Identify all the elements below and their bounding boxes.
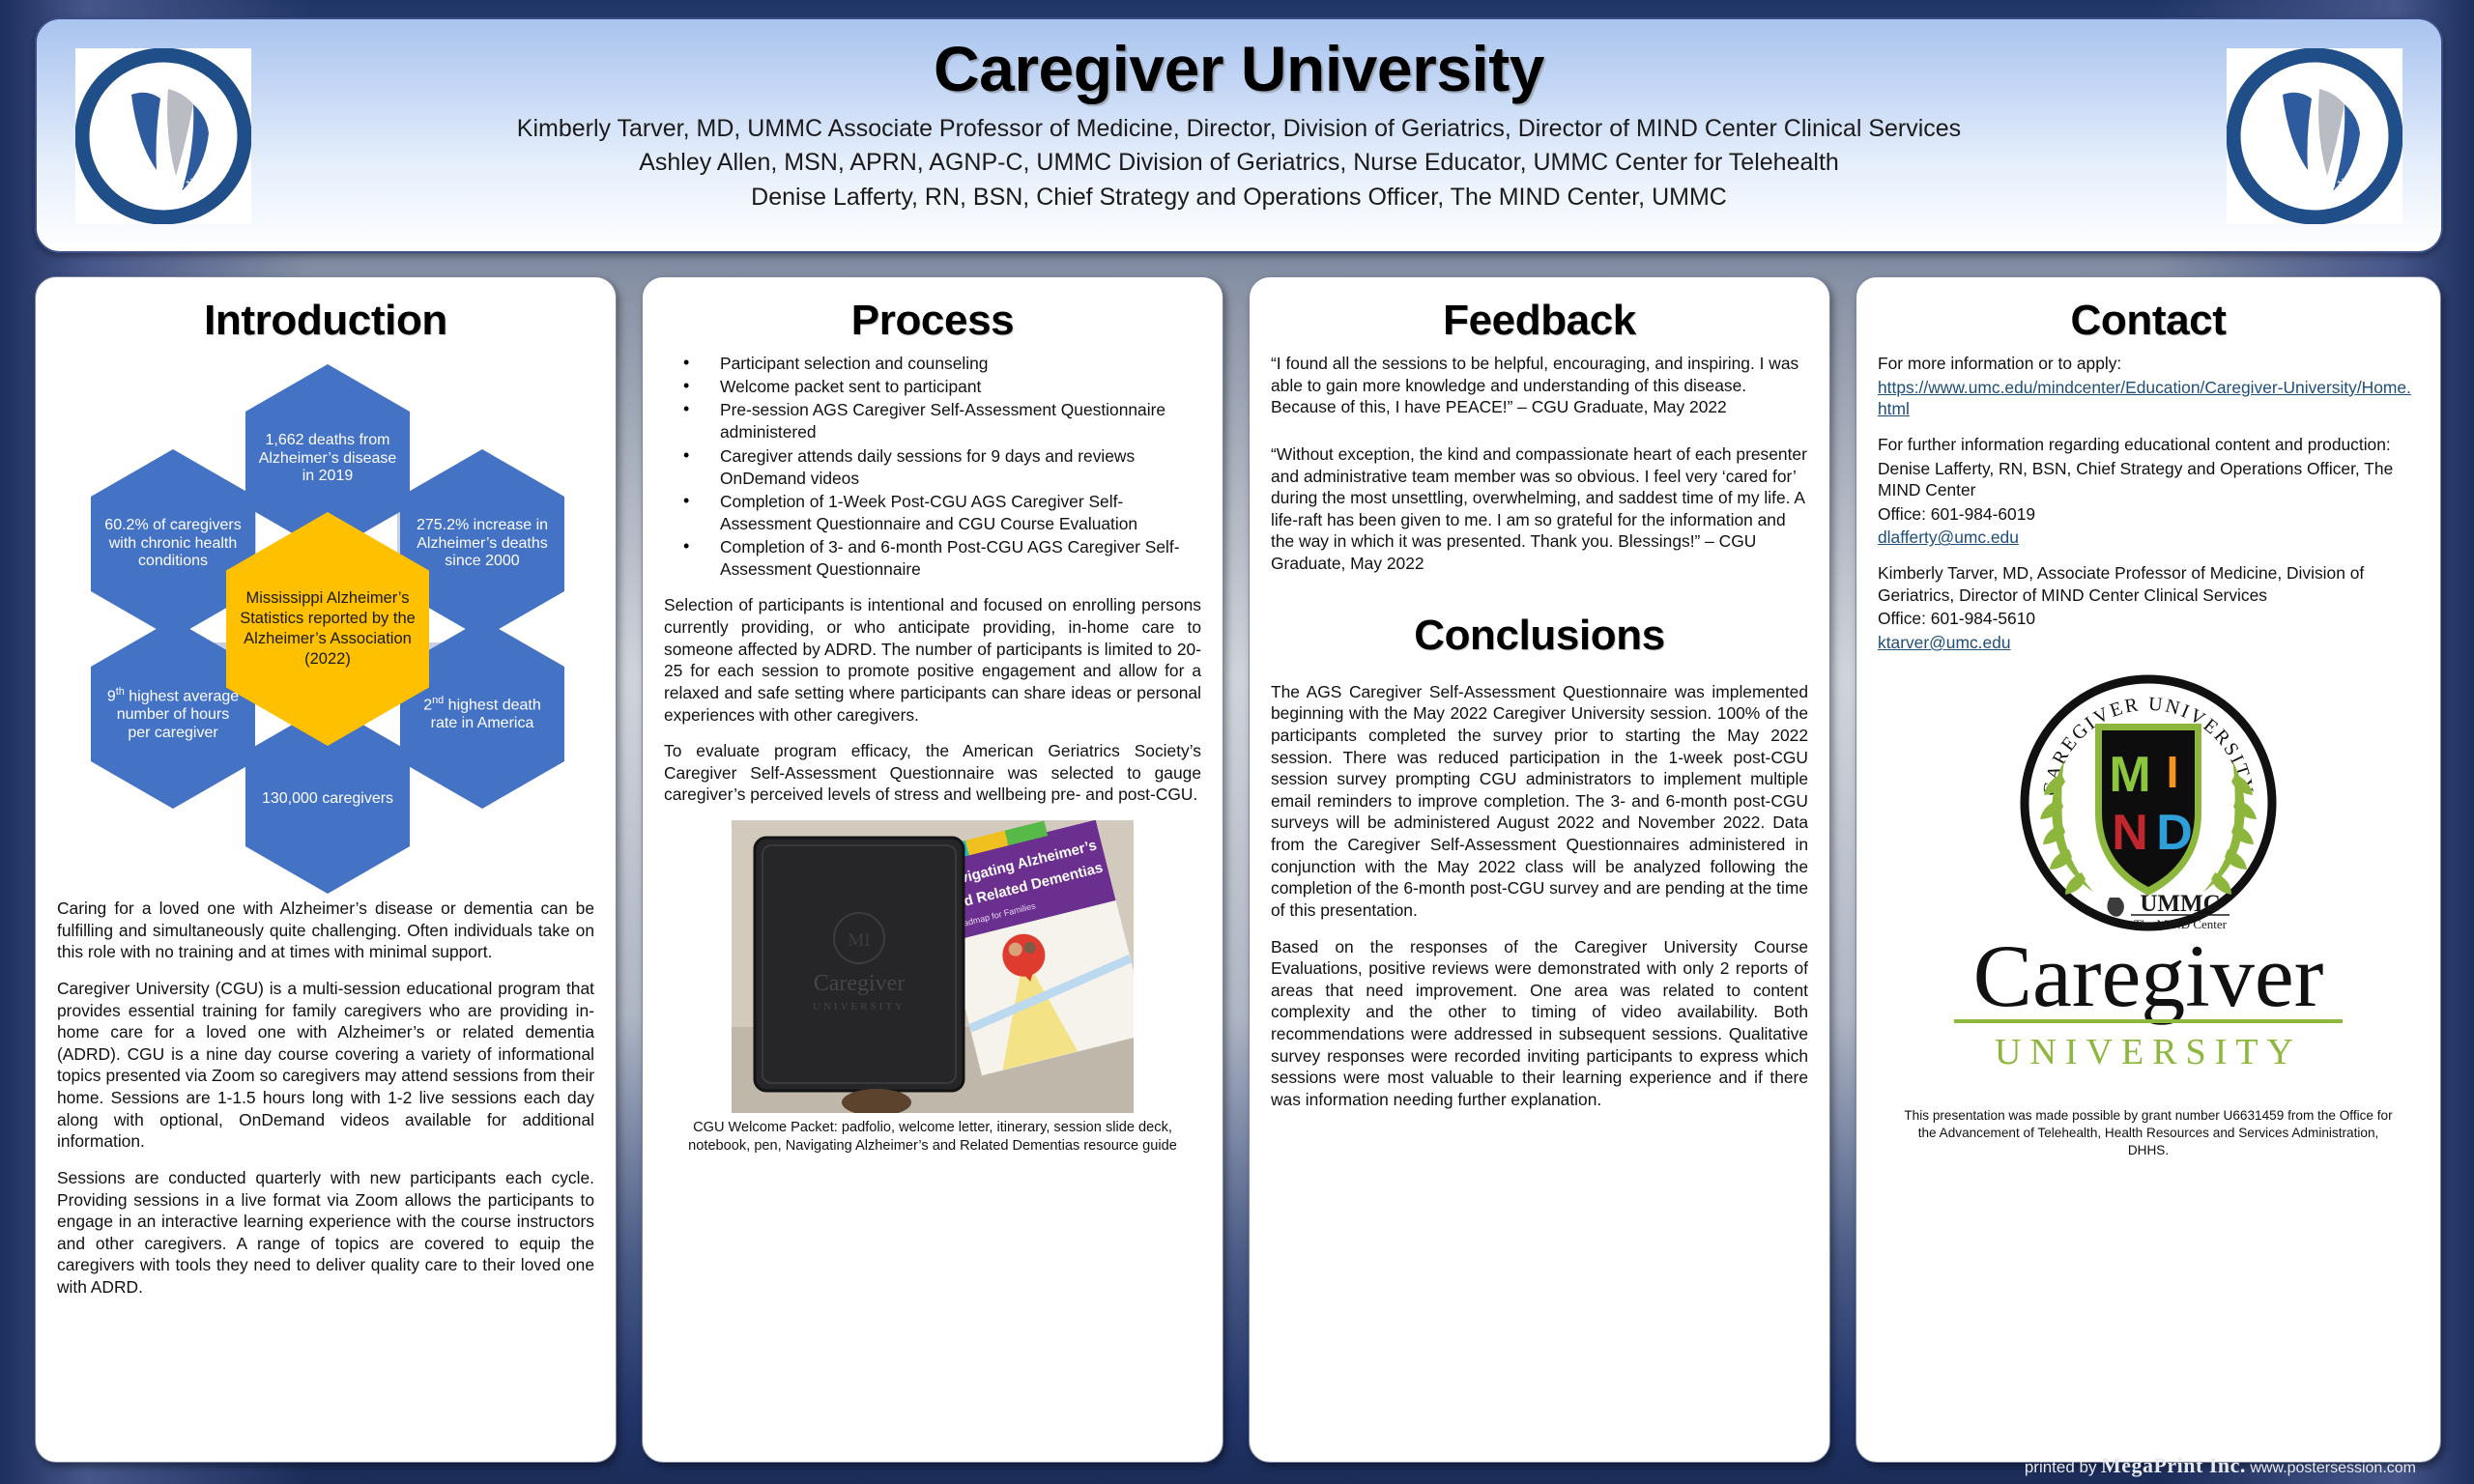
hex-node-center-label: Mississippi Alzheimer’s Statistics repor… bbox=[239, 588, 417, 669]
section-introduction: Introduction 1,662 deaths from Alzheimer… bbox=[35, 276, 617, 1463]
list-item: Pre-session AGS Caregiver Self-Assessmen… bbox=[676, 399, 1201, 443]
contact-person-1-office: Office: 601-984-6019 bbox=[1878, 503, 2419, 526]
process-heading: Process bbox=[664, 297, 1201, 345]
logo-letter-D: D bbox=[2156, 805, 2193, 861]
footer-url: www.postersession.com bbox=[2250, 1460, 2416, 1476]
logo-wordmark-sub: UNIVERSITY bbox=[1995, 1032, 2302, 1072]
list-item: Caregiver attends daily sessions for 9 d… bbox=[676, 445, 1201, 490]
logo-letter-N: N bbox=[2112, 805, 2148, 861]
list-item: Welcome packet sent to participant bbox=[676, 376, 1201, 398]
photo-caption: CGU Welcome Packet: padfolio, welcome le… bbox=[681, 1119, 1184, 1155]
hex-node-1-label: 275.2% increase in Alzheimer’s deaths si… bbox=[413, 517, 552, 572]
feedback-quote-2: “Without exception, the kind and compass… bbox=[1271, 443, 1808, 575]
further-info-label: For further information regarding educat… bbox=[1878, 434, 2419, 456]
list-item: Completion of 1-Week Post-CGU AGS Caregi… bbox=[676, 491, 1201, 535]
poster-header: THE UNIVERSITY OF MISSISSIPPI MEDICAL CE… bbox=[35, 17, 2443, 253]
introduction-paragraph-3: Sessions are conducted quarterly with ne… bbox=[57, 1167, 594, 1298]
hex-node-2-label: 2nd highest death rate in America bbox=[413, 695, 552, 733]
section-process: Process Participant selection and counse… bbox=[642, 276, 1223, 1463]
conclusions-paragraph-2: Based on the responses of the Caregiver … bbox=[1271, 936, 1808, 1111]
footer-printed-by: printed by bbox=[2025, 1458, 2097, 1476]
conclusions-paragraph-1: The AGS Caregiver Self-Assessment Questi… bbox=[1271, 681, 1808, 922]
contact-person-1-name: Denise Lafferty, RN, BSN, Chief Strategy… bbox=[1878, 458, 2419, 501]
author-line-3: Denise Lafferty, RN, BSN, Chief Strategy… bbox=[327, 181, 2151, 215]
footer-printer-name: MegaPrint Inc. bbox=[2101, 1453, 2246, 1477]
feedback-heading: Feedback bbox=[1271, 297, 1808, 345]
ummc-seal-right: THE UNIVERSITY OF MISSISSIPPI MEDICAL CE… bbox=[2227, 48, 2402, 224]
process-paragraph-1: Selection of participants is intentional… bbox=[664, 594, 1201, 726]
introduction-heading: Introduction bbox=[57, 297, 594, 345]
contact-person-2-email[interactable]: ktarver@umc.edu bbox=[1878, 633, 2011, 652]
svg-text:MI: MI bbox=[848, 930, 870, 951]
welcome-packet-photo: Navigating Alzheimer’s and Related Demen… bbox=[732, 820, 1134, 1113]
contact-person-2-name: Kimberly Tarver, MD, Associate Professor… bbox=[1878, 562, 2419, 606]
page-title: Caregiver University bbox=[327, 33, 2151, 106]
conclusions-heading: Conclusions bbox=[1271, 612, 1808, 660]
list-item: Participant selection and counseling bbox=[676, 353, 1201, 375]
contact-person-1-email[interactable]: dlafferty@umc.edu bbox=[1878, 528, 2019, 547]
logo-wordmark: Caregiver bbox=[1973, 927, 2324, 1025]
logo-ummc-text: UMMC bbox=[2140, 891, 2220, 917]
hex-node-4-label: 9th highest average number of hours per … bbox=[103, 686, 243, 743]
hex-node-5-label: 60.2% of caregivers with chronic health … bbox=[103, 517, 243, 572]
section-contact: Contact For more information or to apply… bbox=[1855, 276, 2441, 1463]
grant-acknowledgement: This presentation was made possible by g… bbox=[1903, 1107, 2394, 1160]
caregiver-university-logo: CAREGIVER UNIVERSITY bbox=[1941, 668, 2356, 1088]
apply-label: For more information or to apply: bbox=[1878, 353, 2419, 375]
svg-text:Caregiver: Caregiver bbox=[814, 971, 906, 996]
poster-footer: printed by MegaPrint Inc. www.postersess… bbox=[0, 1453, 2474, 1478]
section-feedback-conclusions: Feedback “I found all the sessions to be… bbox=[1249, 276, 1830, 1463]
logo-letter-M: M bbox=[2109, 747, 2150, 803]
list-item: Completion of 3- and 6-month Post-CGU AG… bbox=[676, 536, 1201, 581]
ummc-seal-left: THE UNIVERSITY OF MISSISSIPPI MEDICAL CE… bbox=[75, 48, 251, 224]
hex-node-0-label: 1,662 deaths from Alzheimer’s disease in… bbox=[258, 432, 397, 487]
feedback-quote-1: “I found all the sessions to be helpful,… bbox=[1271, 353, 1808, 418]
hex-node-3-label: 130,000 caregivers bbox=[262, 790, 393, 809]
contact-heading: Contact bbox=[1878, 297, 2419, 345]
logo-letter-I: I bbox=[2167, 747, 2179, 797]
author-line-1: Kimberly Tarver, MD, UMMC Associate Prof… bbox=[327, 112, 2151, 147]
svg-text:UNIVERSITY: UNIVERSITY bbox=[813, 1001, 906, 1013]
mississippi-statistics-hexagon-figure: 1,662 deaths from Alzheimer’s disease in… bbox=[57, 353, 598, 894]
introduction-paragraph-2: Caregiver University (CGU) is a multi-se… bbox=[57, 978, 594, 1153]
apply-url-link[interactable]: https://www.umc.edu/mindcenter/Education… bbox=[1878, 378, 2411, 419]
process-paragraph-2: To evaluate program efficacy, the Americ… bbox=[664, 740, 1201, 806]
author-line-2: Ashley Allen, MSN, APRN, AGNP-C, UMMC Di… bbox=[327, 146, 2151, 181]
contact-person-2-office: Office: 601-984-5610 bbox=[1878, 608, 2419, 630]
introduction-paragraph-1: Caring for a loved one with Alzheimer’s … bbox=[57, 898, 594, 963]
process-bullet-list: Participant selection and counseling Wel… bbox=[664, 353, 1201, 581]
